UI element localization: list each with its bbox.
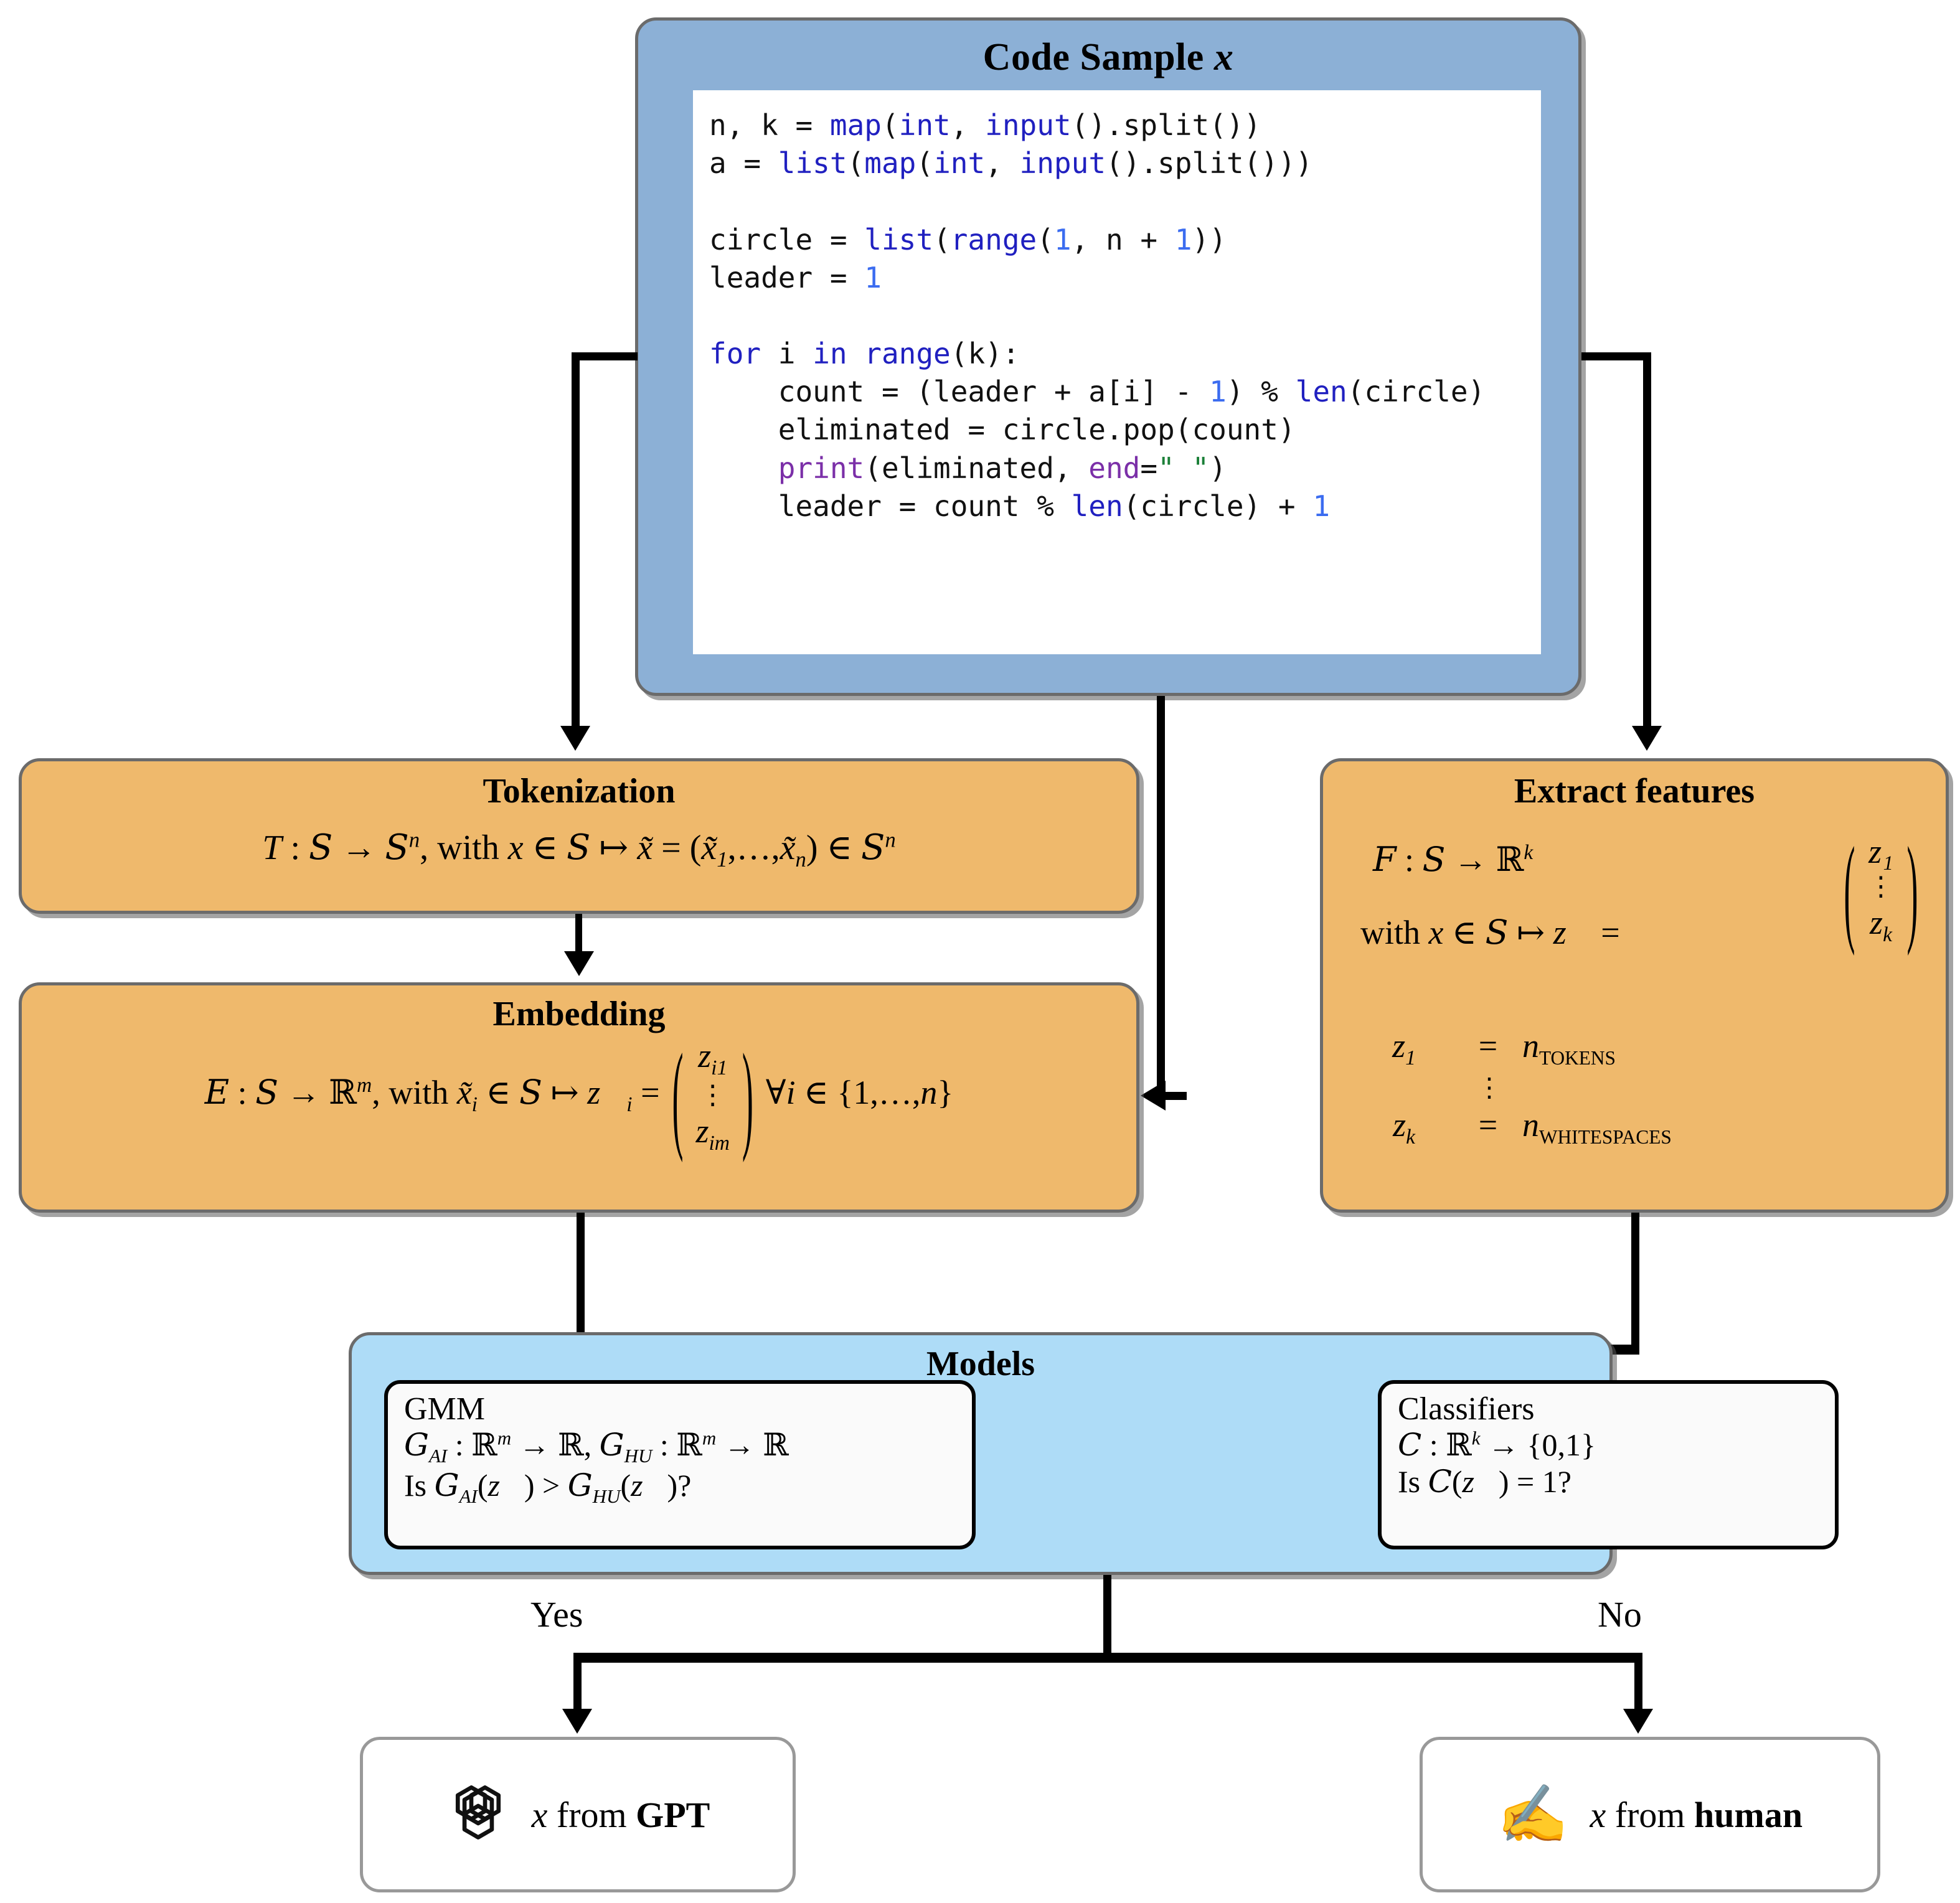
edge-code-to-tokenization-v [572, 352, 580, 726]
tokenization-box: Tokenization T : S → Sn, with x ∈ S ↦ x̃… [19, 758, 1139, 914]
models-title: Models [352, 1335, 1609, 1384]
tokenization-title: Tokenization [22, 761, 1136, 811]
edge-code-to-extract-h [1581, 352, 1651, 360]
embedding-formula: E : S → ℝm, with x̃i ∈ S ↦ z⃗i = ( zi1 ⋮… [22, 1036, 1136, 1156]
extract-features-line2: with x ∈ S ↦ z⃗ = [1360, 913, 1837, 952]
extract-vec-bottom: zk [1870, 903, 1892, 947]
feature-row: z1 = nTOKENS [1354, 1027, 1928, 1070]
classifiers-heading: Classifiers [1398, 1393, 1821, 1427]
feature-rows-ellipsis: ⋮ [1354, 1078, 1928, 1099]
human-outcome-var: x [1590, 1795, 1606, 1835]
human-outcome-label: x from human [1590, 1794, 1802, 1836]
arrow-tokenization-to-embedding [564, 951, 594, 976]
gpt-outcome-label: x from GPT [532, 1794, 710, 1836]
gmm-line2: GAI : ℝm → ℝ, GHU : ℝm → ℝ [404, 1427, 958, 1468]
edge-label-no: No [1598, 1594, 1642, 1635]
classifiers-line2: C : ℝk → {0,1} [1398, 1427, 1821, 1464]
edge-decision-horizontal [573, 1653, 1642, 1663]
code-sample-box: Code Sample x n, k = map(int, input().sp… [635, 17, 1581, 696]
extract-features-line1: F : S → ℝk [1373, 840, 1837, 879]
code-pane: n, k = map(int, input().split()) a = lis… [693, 90, 1541, 654]
gpt-outcome-var: x [532, 1795, 548, 1835]
edge-code-to-embedding-v [1157, 696, 1165, 1100]
extract-features-column-vector: ( z₁ ⋮ zk ) [1840, 832, 1922, 947]
arrow-to-tokenization [560, 726, 590, 751]
embedding-vec-bottom: z [695, 1112, 709, 1150]
human-outcome-strong: human [1694, 1795, 1802, 1835]
edge-tokenization-to-embedding [575, 914, 582, 956]
edge-label-yes: Yes [530, 1594, 583, 1635]
edge-embedding-down [577, 1213, 585, 1345]
edge-code-to-embedding-h [1162, 1092, 1187, 1100]
edge-code-to-extract-v [1643, 352, 1651, 726]
extract-features-body: F : S → ℝk with x ∈ S ↦ z⃗ = ( z₁ ⋮ zk ) [1354, 835, 1928, 1149]
feature-row: zk = nWHITESPACES [1354, 1106, 1928, 1149]
arrow-to-gpt-outcome [562, 1709, 592, 1734]
extract-features-rows: z1 = nTOKENS ⋮ zk = nWHITESPACES [1354, 1027, 1928, 1149]
models-box: Models GMM GAI : ℝm → ℝ, GHU : ℝm → ℝ Is… [349, 1332, 1613, 1575]
code-listing: n, k = map(int, input().split()) a = lis… [693, 90, 1541, 525]
embedding-vec-top: z [698, 1037, 711, 1074]
gmm-heading: GMM [404, 1393, 958, 1427]
edge-code-to-tokenization-h [572, 352, 638, 360]
embedding-vec-bottom-sub: im [709, 1132, 729, 1155]
gpt-outcome-strong: GPT [636, 1795, 710, 1835]
gpt-outcome-middle: from [547, 1795, 636, 1835]
arrow-to-extract-features [1632, 726, 1662, 751]
edge-models-down [1103, 1575, 1111, 1657]
code-sample-title-text: Code Sample [983, 36, 1214, 78]
embedding-box: Embedding E : S → ℝm, with x̃i ∈ S ↦ z⃗i… [19, 982, 1139, 1213]
edge-extract-down [1631, 1213, 1639, 1345]
code-sample-title: Code Sample x [638, 21, 1578, 80]
extract-vec-top: z₁ [1868, 832, 1893, 872]
embedding-column-vector: ( zi1 ⋮ zim ) [668, 1036, 757, 1156]
human-outcome-middle: from [1606, 1795, 1694, 1835]
embedding-vec-top-sub: i1 [711, 1056, 727, 1079]
classifiers-card: Classifiers C : ℝk → {0,1} Is C(z⃗) = 1? [1378, 1380, 1839, 1549]
human-outcome-box: ✍️ x from human [1420, 1737, 1880, 1892]
embedding-title: Embedding [22, 985, 1136, 1034]
arrow-to-human-outcome [1623, 1709, 1653, 1734]
gmm-card: GMM GAI : ℝm → ℝ, GHU : ℝm → ℝ Is GAI(z⃗… [384, 1380, 976, 1549]
extract-features-title: Extract features [1323, 761, 1946, 811]
extract-features-box: Extract features F : S → ℝk with x ∈ S ↦… [1320, 758, 1949, 1213]
writing-hand-icon: ✍️ [1497, 1786, 1569, 1843]
arrow-to-embedding [1141, 1081, 1166, 1111]
classifiers-line3: Is C(z⃗) = 1? [1398, 1464, 1821, 1500]
tokenization-formula: T : S → Sn, with x ∈ S ↦ x̃ = (x̃1,…,x̃n… [22, 827, 1136, 872]
gpt-outcome-box: x from GPT [360, 1737, 796, 1892]
openai-logo-icon [446, 1782, 511, 1847]
code-sample-title-var: x [1214, 36, 1234, 78]
gmm-line3: Is GAI(z⃗) > GHU(z⃗)? [404, 1467, 958, 1508]
